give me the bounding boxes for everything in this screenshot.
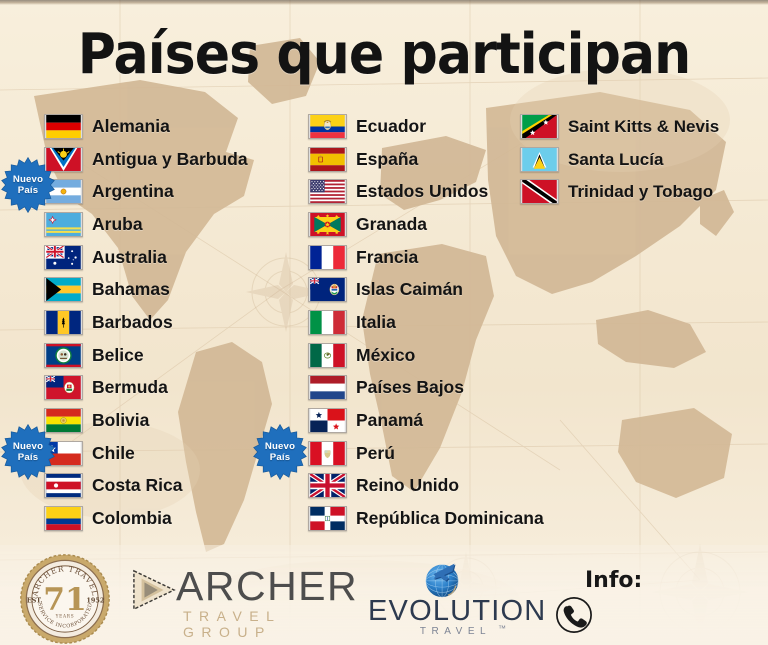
country-name: Ecuador [356, 117, 426, 136]
country-row: Saint Kitts & Nevis [520, 110, 760, 143]
evolution-trademark: ™ [498, 624, 506, 633]
flag-ky-icon [308, 277, 347, 302]
flag-nl-icon [308, 375, 347, 400]
country-name: Panamá [356, 411, 423, 430]
country-name: Antigua y Barbuda [92, 150, 248, 169]
seal-icon: ARCHER TRAVEL SERVICE INCORPORATED 71 YE… [19, 553, 111, 645]
flag-fr-icon [308, 245, 347, 270]
flag-it-icon [308, 310, 347, 335]
flag-bz-icon [44, 343, 83, 368]
flag-gb-icon [308, 473, 347, 498]
country-name: Reino Unido [356, 476, 459, 495]
badge-line-1: Nuevo [13, 174, 43, 186]
flag-bb-icon [44, 310, 83, 335]
country-row: México [308, 339, 523, 372]
country-row: Colombia [44, 502, 294, 535]
country-row: Trinidad y Tobago [520, 175, 760, 208]
flag-pe-icon [308, 441, 347, 466]
badge-line-2: País [18, 452, 39, 464]
country-name: Perú [356, 444, 395, 463]
country-name: Italia [356, 313, 396, 332]
country-name: Aruba [92, 215, 143, 234]
country-row: Francia [308, 241, 523, 274]
flag-ec-icon [308, 114, 347, 139]
svg-text:YEARS: YEARS [55, 613, 75, 618]
country-row: Belice [44, 339, 294, 372]
country-name: Alemania [92, 117, 170, 136]
country-name: Países Bajos [356, 378, 464, 397]
evolution-tagline: TRAVEL [368, 626, 543, 638]
country-name: Argentina [92, 182, 174, 201]
country-row: Aruba [44, 208, 294, 241]
country-row: República Dominicana [308, 502, 523, 535]
nuevo-pais-badge-peru: Nuevo País [252, 424, 308, 480]
country-name: Barbados [92, 313, 173, 332]
country-name: Trinidad y Tobago [568, 182, 713, 201]
country-row: Panamá [308, 404, 523, 437]
country-name: Colombia [92, 509, 172, 528]
country-row: Antigua y Barbuda [44, 143, 294, 176]
country-name: España [356, 150, 418, 169]
info-label: Info: [585, 568, 642, 594]
country-name: Costa Rica [92, 476, 182, 495]
archer-anniversary-seal: ARCHER TRAVEL SERVICE INCORPORATED 71 YE… [19, 553, 111, 645]
page-title: Países que participan [27, 24, 741, 86]
badge-line-2: País [270, 452, 291, 464]
nuevo-pais-badge-argentina: Nuevo País [0, 157, 56, 213]
evolution-travel-logo: EVOLUTION TRAVEL ™ [368, 556, 543, 636]
country-name: México [356, 346, 415, 365]
country-name: Chile [92, 444, 135, 463]
country-row: Alemania [44, 110, 294, 143]
country-row: Australia [44, 241, 294, 274]
country-row: Países Bajos [308, 372, 523, 405]
country-name: Granada [356, 215, 427, 234]
country-name: Francia [356, 248, 418, 267]
phone-icon[interactable] [555, 596, 593, 634]
badge-line-1: Nuevo [265, 441, 295, 453]
country-row: Ecuador [308, 110, 523, 143]
country-row: Bahamas [44, 273, 294, 306]
country-row: Perú [308, 437, 523, 470]
country-name: Saint Kitts & Nevis [568, 117, 719, 136]
country-row: Granada [308, 208, 523, 241]
svg-text:EST.: EST. [27, 597, 43, 605]
flag-kn-icon [520, 114, 559, 139]
flag-lc-icon [520, 147, 559, 172]
country-name: Estados Unidos [356, 182, 488, 201]
nuevo-pais-badge-chile: Nuevo País [0, 424, 56, 480]
flag-us-icon [308, 179, 347, 204]
country-name: Islas Caimán [356, 280, 463, 299]
country-column-2: EcuadorEspañaEstados UnidosGranadaFranci… [308, 110, 523, 535]
flag-es-icon [308, 147, 347, 172]
country-row: Italia [308, 306, 523, 339]
globe-airplane-icon [420, 556, 468, 600]
poster-root: Países que participan AlemaniaAntigua y … [0, 0, 768, 645]
top-edge-band [0, 0, 768, 5]
flag-de-icon [44, 114, 83, 139]
phone-circle-icon [555, 596, 593, 634]
country-name: Bolivia [92, 411, 149, 430]
flag-gd-icon [308, 212, 347, 237]
badge-text: Nuevo País [252, 424, 308, 480]
badge-text: Nuevo País [0, 157, 56, 213]
badge-text: Nuevo País [0, 424, 56, 480]
flag-co-icon [44, 506, 83, 531]
archer-travel-group-logo: ARCHER TRAVEL GROUP [130, 562, 358, 632]
country-row: Reino Unido [308, 470, 523, 503]
svg-text:1952: 1952 [86, 597, 104, 605]
flag-do-icon [308, 506, 347, 531]
country-row: Argentina [44, 175, 294, 208]
country-row: Santa Lucía [520, 143, 760, 176]
flag-bm-icon [44, 375, 83, 400]
country-column-3: Saint Kitts & NevisSanta LucíaTrinidad y… [520, 110, 760, 208]
country-row: Barbados [44, 306, 294, 339]
archer-triangle-icon [130, 568, 178, 612]
country-name: Santa Lucía [568, 150, 663, 169]
triangle-arrow-icon [130, 568, 178, 612]
country-row: Estados Unidos [308, 175, 523, 208]
flag-aw-icon [44, 212, 83, 237]
country-row: Islas Caimán [308, 273, 523, 306]
info-block: Info: [555, 568, 745, 640]
country-name: Belice [92, 346, 144, 365]
country-name: Bermuda [92, 378, 168, 397]
evolution-wordmark: EVOLUTION [368, 596, 543, 627]
flag-au-icon [44, 245, 83, 270]
country-name: República Dominicana [356, 509, 544, 528]
flag-pa-icon [308, 408, 347, 433]
country-name: Bahamas [92, 280, 170, 299]
archer-tagline: TRAVEL GROUP [183, 608, 358, 640]
globe-icon [420, 556, 468, 600]
country-name: Australia [92, 248, 167, 267]
country-row: Bermuda [44, 372, 294, 405]
flag-bs-icon [44, 277, 83, 302]
flag-mx-icon [308, 343, 347, 368]
badge-line-1: Nuevo [13, 441, 43, 453]
badge-line-2: País [18, 185, 39, 197]
country-row: España [308, 143, 523, 176]
flag-tt-icon [520, 179, 559, 204]
archer-wordmark: ARCHER [176, 564, 358, 608]
